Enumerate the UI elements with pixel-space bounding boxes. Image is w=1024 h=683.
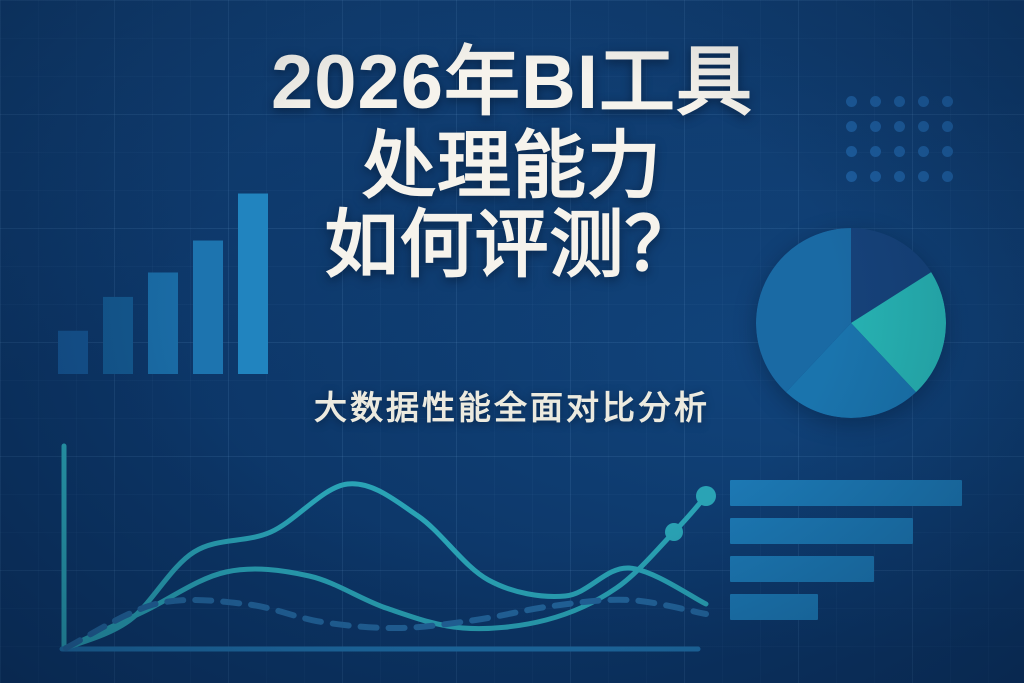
ranking-bar-chart — [730, 480, 970, 630]
data-point-marker — [696, 486, 716, 506]
hbar-row-3 — [730, 556, 874, 582]
bar-1 — [58, 331, 88, 374]
hbar-row-4 — [730, 594, 818, 620]
trend-line-chart-svg — [38, 432, 738, 667]
line-series-secondary-solid — [66, 484, 706, 648]
trend-line-chart — [38, 432, 738, 667]
title-line-3: 如何评测？ — [0, 207, 1024, 282]
bar-3 — [148, 272, 178, 374]
data-point-marker — [665, 523, 683, 541]
bar-2 — [103, 297, 133, 374]
hbar-row-1 — [730, 480, 962, 506]
chart-axes — [62, 446, 698, 649]
poster-canvas: 2026年BI工具 处理能力 如何评测？ 大数据性能全面对比分析 — [0, 0, 1024, 683]
title-line-2: 处理能力 — [0, 128, 1024, 203]
page-title: 2026年BI工具 处理能力 如何评测？ — [0, 44, 1024, 282]
page-subtitle: 大数据性能全面对比分析 — [0, 381, 1024, 429]
title-line-1: 2026年BI工具 — [0, 44, 1024, 122]
hbar-row-2 — [730, 518, 913, 544]
